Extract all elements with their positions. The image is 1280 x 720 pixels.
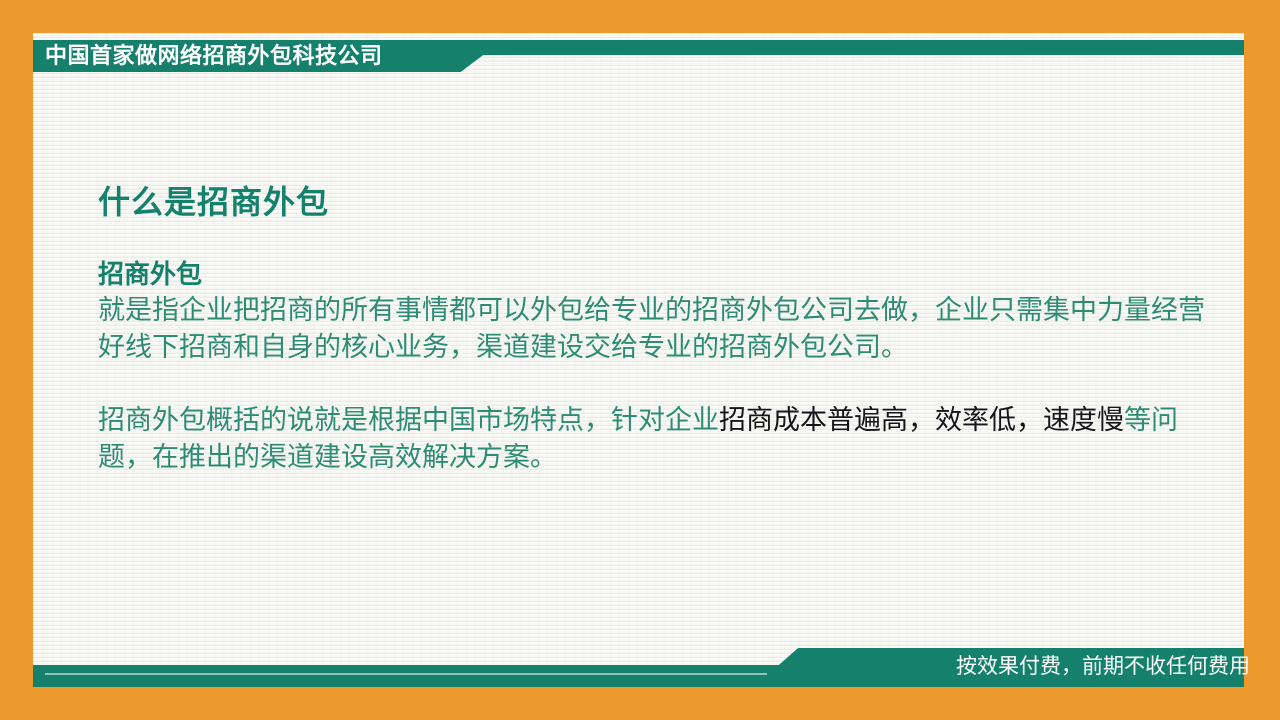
content-paragraph-1: 就是指企业把招商的所有事情都可以外包给专业的招商外包公司去做，企业只需集中力量经… (98, 292, 1218, 366)
content-lead: 招商外包 (98, 258, 1218, 290)
footer-hairline (45, 673, 767, 675)
page-title: 什么是招商外包 (98, 177, 329, 223)
content-body: 招商外包 就是指企业把招商的所有事情都可以外包给专业的招商外包公司去做，企业只需… (98, 258, 1218, 476)
header-title: 中国首家做网络招商外包科技公司 (45, 41, 383, 71)
content-paragraph-2: 招商外包概括的说就是根据中国市场特点，针对企业招商成本普遍高，效率低，速度慢等问… (98, 402, 1218, 476)
footer-title: 按效果付费，前期不收任何费用 (956, 652, 1250, 682)
content-paragraph-2-highlight: 招商成本普遍高，效率低，速度慢 (719, 405, 1124, 435)
content-paragraph-2-green-lead: 招商外包概括的说就是根据中国市场特点，针对企业 (98, 405, 719, 435)
slide: 中国首家做网络招商外包科技公司 什么是招商外包 招商外包 就是指企业把招商的所有… (0, 0, 1280, 720)
